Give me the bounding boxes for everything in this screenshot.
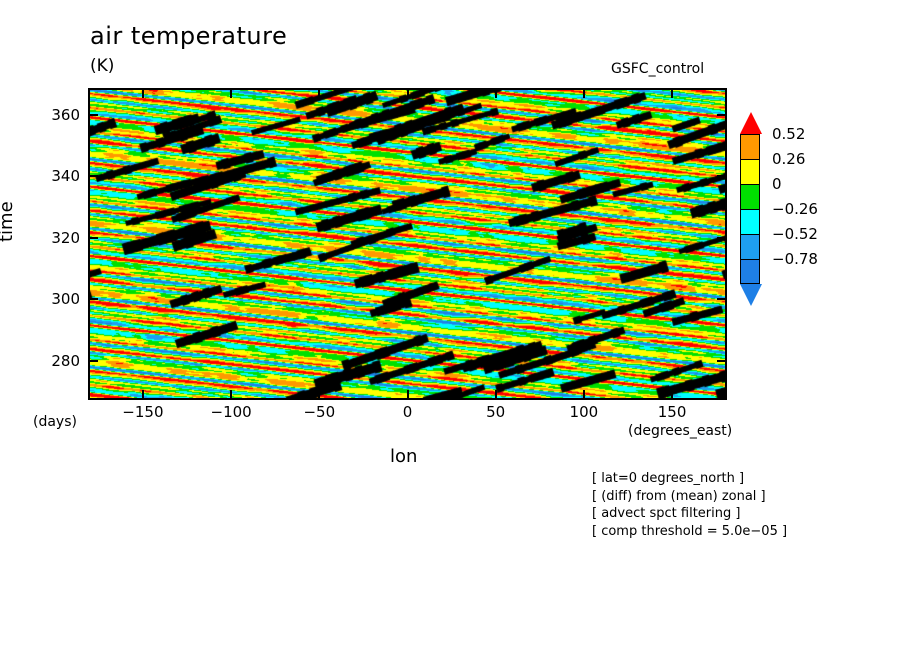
colorbar-band <box>740 184 760 209</box>
x-tick-label: 50 <box>486 403 505 421</box>
x-tick-mark <box>583 390 585 398</box>
colorbar-tick-label: −0.26 <box>772 200 818 218</box>
colorbar-band <box>740 259 760 284</box>
y-tick-label: 360 <box>28 106 80 124</box>
colorbar-tick-label: −0.78 <box>772 250 818 268</box>
x-tick-label: −50 <box>303 403 335 421</box>
y-axis-units: (days) <box>33 414 77 430</box>
page-title: air temperature <box>90 22 287 50</box>
colorbar-band <box>740 159 760 184</box>
colorbar-tick-label: 0 <box>772 175 782 193</box>
x-tick-label: 100 <box>570 403 599 421</box>
x-tick-mark <box>318 90 320 98</box>
y-tick-mark <box>717 237 725 239</box>
y-tick-mark <box>717 175 725 177</box>
colorbar-band <box>740 209 760 234</box>
temperature-field <box>90 90 725 398</box>
hovmoller-plot-area <box>88 88 727 400</box>
x-tick-mark <box>407 90 409 98</box>
colorbar-band <box>740 134 760 159</box>
x-tick-mark <box>495 90 497 98</box>
x-tick-mark <box>230 390 232 398</box>
x-tick-mark <box>318 390 320 398</box>
y-tick-mark <box>90 175 98 177</box>
colorbar-arrow-up-icon <box>740 112 762 134</box>
y-tick-mark <box>717 360 725 362</box>
x-tick-label: −100 <box>211 403 252 421</box>
y-tick-mark <box>717 114 725 116</box>
y-tick-label: 340 <box>28 167 80 185</box>
x-tick-mark <box>671 90 673 98</box>
x-tick-mark <box>142 90 144 98</box>
x-tick-mark <box>495 390 497 398</box>
x-tick-mark <box>230 90 232 98</box>
x-tick-mark <box>583 90 585 98</box>
annotation-line: [ comp threshold = 5.0e−05 ] <box>592 523 787 541</box>
x-tick-mark <box>142 390 144 398</box>
x-tick-mark <box>407 390 409 398</box>
x-axis-title: lon <box>390 446 417 467</box>
dataset-label: GSFC_control <box>611 61 704 77</box>
colorbar-tick-label: 0.26 <box>772 150 805 168</box>
colorbar-tick-label: 0.52 <box>772 125 805 143</box>
y-tick-mark <box>717 298 725 300</box>
x-tick-mark <box>671 390 673 398</box>
annotation-line: [ lat=0 degrees_north ] <box>592 470 787 488</box>
annotation-line: [ (diff) from (mean) zonal ] <box>592 488 787 506</box>
units-label: (K) <box>90 56 114 76</box>
x-axis-units: (degrees_east) <box>628 423 732 439</box>
y-tick-mark <box>90 237 98 239</box>
y-tick-label: 320 <box>28 229 80 247</box>
y-axis-title: time <box>0 201 17 242</box>
x-tick-label: −150 <box>122 403 163 421</box>
annotation-block: [ lat=0 degrees_north ][ (diff) from (me… <box>592 470 787 540</box>
annotation-line: [ advect spct filtering ] <box>592 505 787 523</box>
colorbar-tick-label: −0.52 <box>772 225 818 243</box>
colorbar: 0.520.260−0.26−0.52−0.78 <box>740 112 762 306</box>
y-tick-mark <box>90 298 98 300</box>
x-tick-label: 0 <box>403 403 413 421</box>
y-tick-label: 280 <box>28 352 80 370</box>
y-tick-mark <box>90 360 98 362</box>
x-tick-label: 150 <box>658 403 687 421</box>
colorbar-band <box>740 234 760 259</box>
colorbar-arrow-down-icon <box>740 284 762 306</box>
y-tick-mark <box>90 114 98 116</box>
y-tick-label: 300 <box>28 290 80 308</box>
